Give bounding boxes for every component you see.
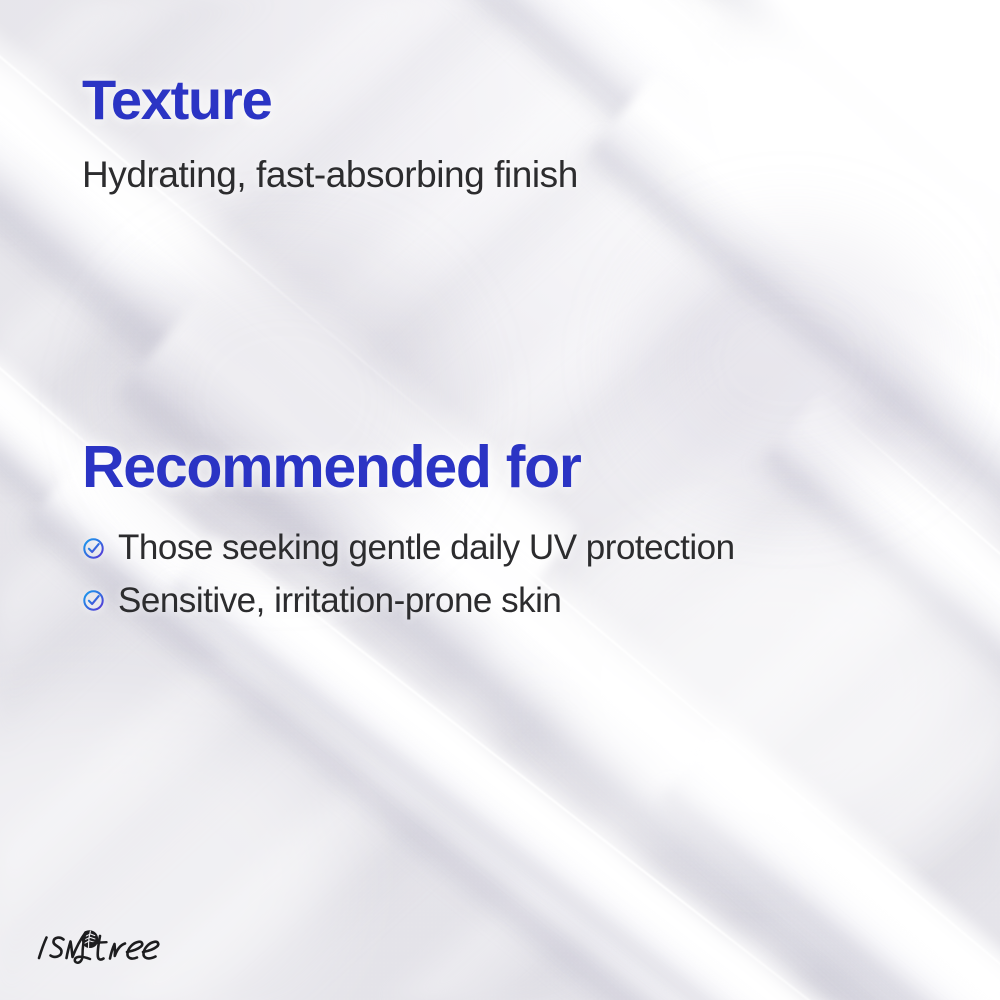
- content-layer: Texture Hydrating, fast-absorbing finish…: [0, 0, 1000, 1000]
- list-item: Those seeking gentle daily UV protection: [82, 529, 735, 568]
- check-circle-icon: [82, 537, 105, 560]
- list-item-label: Sensitive, irritation-prone skin: [118, 582, 561, 621]
- brand-logo: [34, 925, 184, 969]
- texture-heading: Texture: [82, 72, 578, 128]
- check-circle-icon: [82, 589, 105, 612]
- list-item-label: Those seeking gentle daily UV protection: [118, 529, 735, 568]
- recommended-section: Recommended for: [82, 438, 735, 634]
- product-detail-panel: Texture Hydrating, fast-absorbing finish…: [0, 0, 1000, 1000]
- texture-section: Texture Hydrating, fast-absorbing finish: [82, 72, 578, 195]
- recommended-heading: Recommended for: [82, 438, 735, 497]
- recommended-list: Those seeking gentle daily UV protection: [82, 529, 735, 620]
- list-item: Sensitive, irritation-prone skin: [82, 582, 735, 621]
- texture-subtitle: Hydrating, fast-absorbing finish: [82, 154, 578, 195]
